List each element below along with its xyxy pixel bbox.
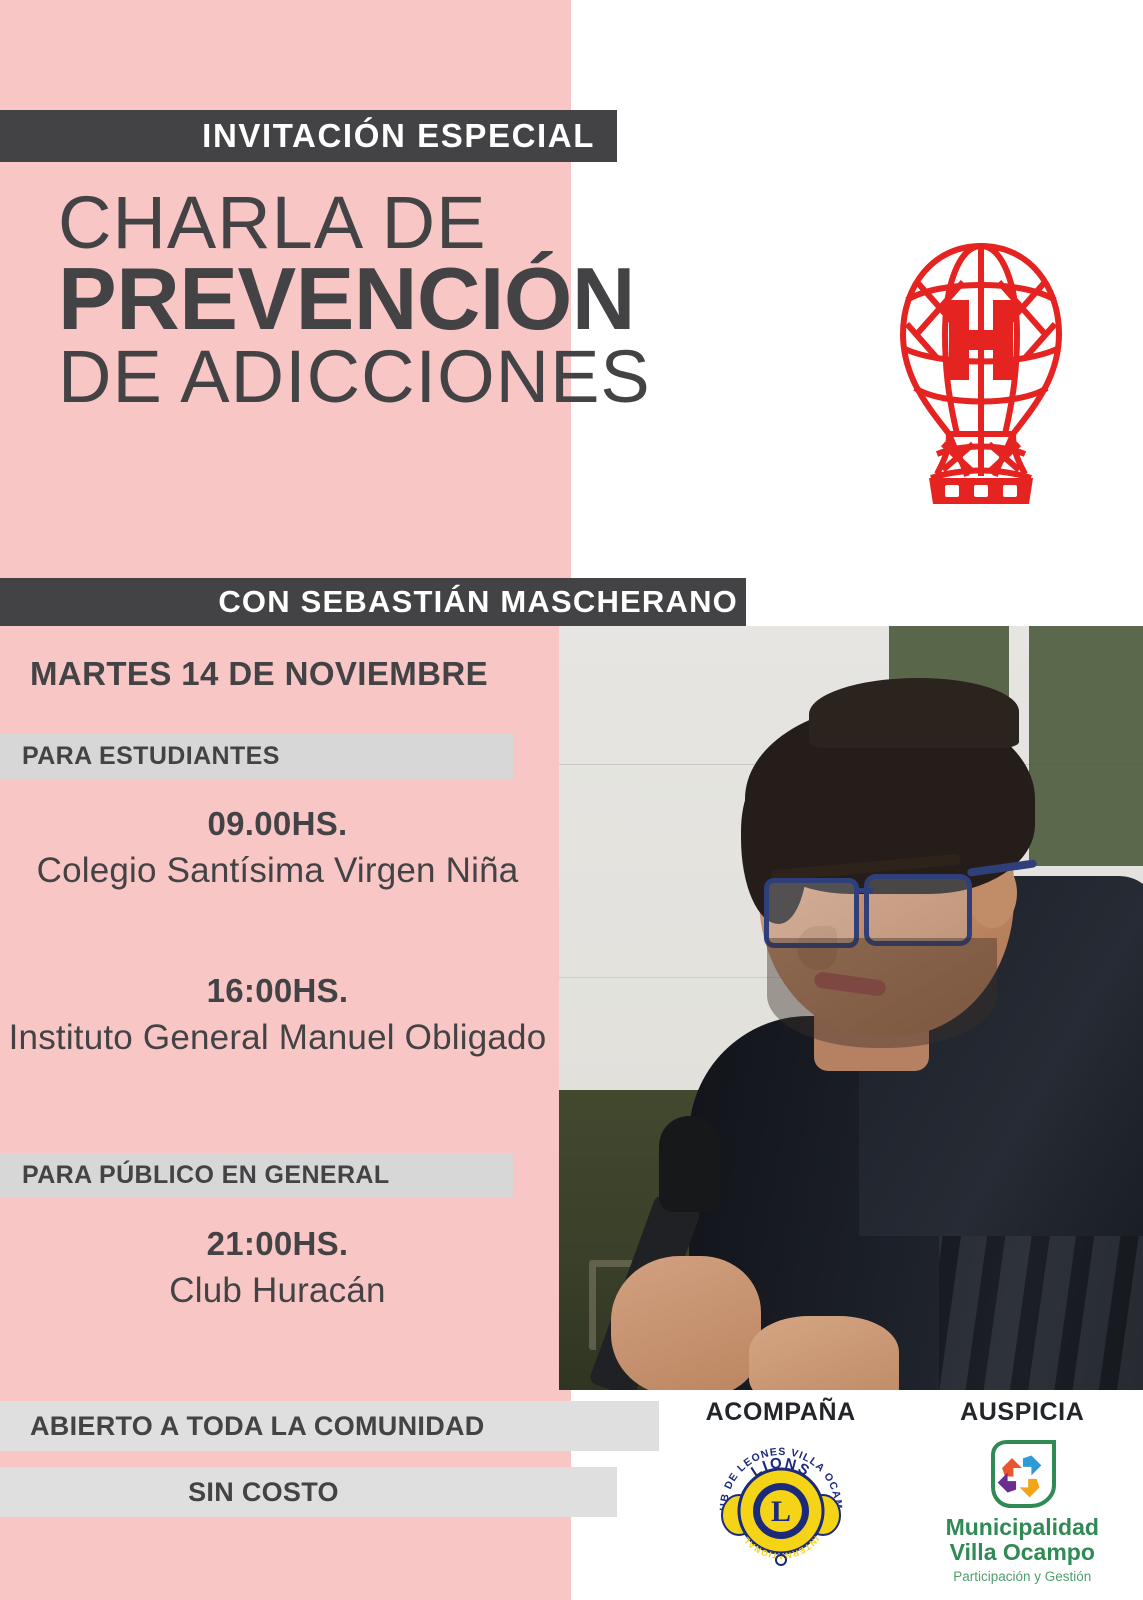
photo-person-glasses-right <box>864 874 972 946</box>
audience-bar-students: PARA ESTUDIANTES <box>0 734 513 779</box>
photo-person-hair-top <box>809 678 1019 748</box>
note-free: SIN COSTO <box>0 1467 617 1517</box>
invitation-banner: INVITACIÓN ESPECIAL <box>0 110 617 162</box>
lions-club-icon: CLUB DE LEONES VILLA OCAMPO LIONS <box>715 1437 847 1569</box>
municipalidad-shield-icon <box>985 1437 1059 1511</box>
speaker-label: CON SEBASTIÁN MASCHERANO <box>218 584 738 620</box>
photo-person-glasses-bridge <box>857 888 873 893</box>
sponsor-acompana: ACOMPAÑA CLUB DE LEONES VILLA OCAMPO <box>660 1398 902 1600</box>
photo-person-hand-right <box>749 1316 899 1390</box>
title-line-2: PREVENCIÓN <box>58 255 878 342</box>
schedule-time: 09.00HS. <box>0 805 555 843</box>
photo-green-panel-right <box>1029 626 1143 866</box>
sponsor-caption: ACOMPAÑA <box>706 1398 856 1427</box>
huracan-balloon-icon <box>893 238 1069 510</box>
note-open-to-community: ABIERTO A TODA LA COMUNIDAD <box>0 1401 659 1451</box>
municipalidad-line-2: Villa Ocampo <box>950 1540 1095 1565</box>
event-date: MARTES 14 DE NOVIEMBRE <box>30 655 488 693</box>
poster-canvas: INVITACIÓN ESPECIAL CHARLA DE PREVENCIÓN… <box>0 0 1143 1600</box>
schedule-place: Club Huracán <box>0 1271 555 1310</box>
audience-label-general: PARA PÚBLICO EN GENERAL <box>22 1161 390 1190</box>
speaker-banner: CON SEBASTIÁN MASCHERANO <box>0 578 746 626</box>
schedule-entry: 09.00HS. Colegio Santísima Virgen Niña <box>0 805 555 890</box>
speaker-photo <box>559 626 1143 1390</box>
sponsor-auspicia: AUSPICIA Municipalidad Vi <box>902 1398 1143 1600</box>
sponsor-caption: AUSPICIA <box>960 1398 1084 1427</box>
lions-letter: L <box>771 1495 791 1528</box>
invitation-label: INVITACIÓN ESPECIAL <box>202 117 595 155</box>
photo-microphone-head <box>659 1116 721 1212</box>
title-line-1: CHARLA DE <box>58 186 878 259</box>
note-open-label: ABIERTO A TODA LA COMUNIDAD <box>30 1411 485 1442</box>
page-title: CHARLA DE PREVENCIÓN DE ADICCIONES <box>58 186 878 414</box>
photo-person-hand-left <box>611 1256 761 1390</box>
schedule-time: 16:00HS. <box>0 972 555 1010</box>
municipalidad-line-1: Municipalidad <box>946 1515 1099 1540</box>
schedule-place: Colegio Santísima Virgen Niña <box>0 851 555 890</box>
schedule-place: Instituto General Manuel Obligado <box>0 1018 555 1057</box>
note-free-label: SIN COSTO <box>188 1477 339 1508</box>
audience-label-students: PARA ESTUDIANTES <box>22 742 280 771</box>
title-line-3: DE ADICCIONES <box>58 340 878 413</box>
schedule-entry: 21:00HS. Club Huracán <box>0 1225 555 1310</box>
audience-bar-general: PARA PÚBLICO EN GENERAL <box>0 1153 513 1198</box>
schedule-time: 21:00HS. <box>0 1225 555 1263</box>
sponsors-row: ACOMPAÑA CLUB DE LEONES VILLA OCAMPO <box>660 1398 1143 1600</box>
municipalidad-tagline: Participación y Gestión <box>953 1569 1091 1585</box>
schedule-entry: 16:00HS. Instituto General Manuel Obliga… <box>0 972 555 1057</box>
